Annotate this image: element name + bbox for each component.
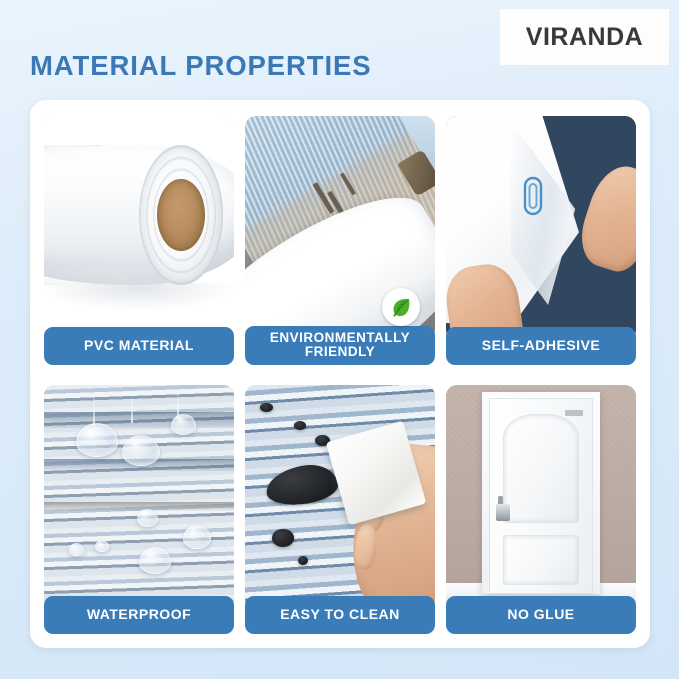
leaf-icon bbox=[382, 288, 420, 326]
door-frame bbox=[482, 392, 600, 595]
infographic-page: VIRANDA MATERIAL PROPERTIES PVC MATERIAL bbox=[0, 0, 679, 679]
water-droplet bbox=[69, 543, 84, 557]
feature-image-wiping-stain bbox=[245, 385, 435, 610]
door-top-marking bbox=[565, 410, 584, 416]
door-panel-upper bbox=[503, 414, 578, 523]
feature-card-self-adhesive[interactable]: SELF-ADHESIVE bbox=[446, 116, 636, 365]
water-droplet bbox=[137, 509, 158, 527]
feature-label-no-glue: NO GLUE bbox=[446, 596, 636, 634]
feature-label-pvc-material: PVC MATERIAL bbox=[44, 327, 234, 365]
feature-image-water-droplets bbox=[44, 385, 234, 610]
cardboard-core bbox=[157, 179, 205, 251]
stain-small bbox=[298, 556, 308, 565]
feature-label-easy-to-clean: EASY TO CLEAN bbox=[245, 596, 435, 634]
feature-card-easy-to-clean[interactable]: EASY TO CLEAN bbox=[245, 385, 435, 634]
door-leaf bbox=[489, 398, 593, 594]
feature-label-waterproof: WATERPROOF bbox=[44, 596, 234, 634]
feature-panel: PVC MATERIAL bbox=[30, 100, 650, 648]
stain-small bbox=[272, 529, 295, 547]
feature-card-no-glue[interactable]: NO GLUE bbox=[446, 385, 636, 634]
feature-image-pvc-roll bbox=[44, 116, 234, 341]
brand-logo-box: VIRANDA bbox=[500, 9, 669, 65]
feature-image-rolled-wallpaper bbox=[245, 116, 435, 340]
feature-card-waterproof[interactable]: WATERPROOF bbox=[44, 385, 234, 634]
feature-card-pvc-material[interactable]: PVC MATERIAL bbox=[44, 116, 234, 365]
feature-label-line2: FRIENDLY bbox=[305, 344, 375, 359]
water-droplet bbox=[171, 414, 196, 434]
door-handle bbox=[496, 504, 510, 521]
water-droplet bbox=[139, 547, 171, 574]
water-droplet bbox=[76, 423, 118, 457]
water-droplet bbox=[95, 540, 108, 551]
feature-label-self-adhesive: SELF-ADHESIVE bbox=[446, 327, 636, 365]
paperclip-icon bbox=[522, 175, 544, 217]
brand-name: VIRANDA bbox=[526, 23, 643, 52]
feature-image-peel-backing bbox=[446, 116, 636, 341]
feature-grid: PVC MATERIAL bbox=[44, 116, 636, 634]
page-title: MATERIAL PROPERTIES bbox=[30, 50, 372, 82]
stain-small bbox=[294, 421, 305, 430]
feature-image-door bbox=[446, 385, 636, 610]
door-panel-lower bbox=[503, 535, 578, 586]
water-droplet bbox=[122, 435, 160, 467]
feature-label-line1: ENVIRONMENTALLY bbox=[270, 330, 410, 345]
water-droplet bbox=[183, 525, 212, 550]
feature-label-environmentally-friendly: ENVIRONMENTALLY FRIENDLY bbox=[245, 326, 435, 365]
feature-card-environmentally-friendly[interactable]: ENVIRONMENTALLY FRIENDLY bbox=[245, 116, 435, 365]
